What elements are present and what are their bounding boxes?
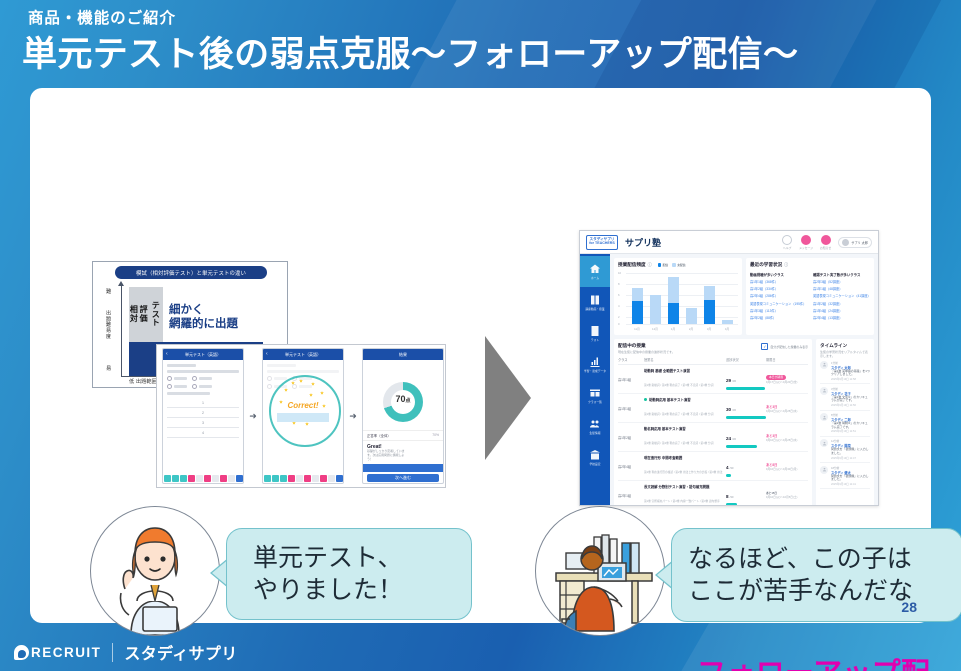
row-progress-cell: 24/30 [726, 427, 766, 448]
slide-eyebrow: 商品・機能のご紹介 [28, 6, 176, 28]
correct-ring-icon [269, 375, 341, 447]
bubble-left-line-2: やりました！ [253, 576, 403, 604]
options-row-1 [167, 376, 239, 381]
timeline-item[interactable]: 1分前 スタディ 太郎 「第1章 英単語の基礎」を1つクリアしました。 2025… [820, 358, 870, 384]
back-chevron-icon[interactable]: ‹ [266, 351, 268, 357]
comment-body: 基礎がしっかり定着しています。次は応用問題に挑戦しよう！ [367, 450, 407, 461]
row-date-range: 9月17日(火)〜9月20日(金) [766, 380, 808, 384]
y-axis-line [121, 284, 122, 376]
notifications-action[interactable]: お知らせ [820, 235, 831, 250]
footer-chip[interactable] [272, 475, 279, 482]
row-date-range: 9月10日(火)〜9月30日(月) [766, 467, 808, 471]
avatar [820, 413, 828, 421]
class-icon [589, 387, 601, 399]
col-date[interactable]: 期限日 [766, 357, 808, 362]
bubble-right-line-1: なるほど、この子は [688, 545, 912, 573]
diagram-note: 細かく 網羅的に出題 [169, 304, 238, 332]
list-item[interactable]: 英語表現コミュニケーション（41講座） [813, 293, 870, 298]
table-row[interactable]: 高2年1組 長文読解 分野別テスト演習・語句補充問題 第1章 空所補充パート /… [618, 481, 808, 506]
sidebar-label: 生徒情報 [590, 431, 601, 435]
bar-chart: 10 8 6 4 2 0 [618, 271, 738, 331]
row-class: 高1年1組 [618, 377, 644, 382]
diagram-note-line-1: 細かく [169, 304, 204, 316]
x-tick: 2月 [686, 327, 697, 331]
row-class: 高1年1組 [618, 406, 644, 411]
column-heading: 動画視聴が多いクラス [750, 272, 807, 277]
analytics-icon [589, 356, 601, 368]
checkbox-label: 自分が配信した授業のみ表示 [770, 345, 808, 349]
diagram-title: 模試（相対評価テスト）と単元テストの違い [115, 266, 267, 279]
relative-test-line-2: 評価 [139, 306, 149, 324]
progress-total: /30 [732, 437, 736, 441]
list-item[interactable]: 高1年2組（32講座） [813, 301, 870, 306]
list-item[interactable]: 高1年1組（368件） [750, 279, 807, 284]
table-title: 配信中の授業 [618, 343, 675, 349]
test-icon [589, 325, 601, 337]
timeline-item[interactable]: 3分前 スタディ 花子 「第1章 文型①」のカリキュラムが完了です。 2025年… [820, 384, 870, 410]
row-class: 高1年2組 [618, 435, 644, 440]
person-icon [822, 415, 827, 420]
chart-legend: 配信 未配信 [658, 263, 686, 267]
row-lesson-name: 現在進行形 中間考査範囲 [644, 455, 726, 460]
sidebar-label: ホーム [591, 276, 599, 280]
footer-chip[interactable] [172, 475, 179, 482]
list-item[interactable]: 高1年4組（24講座） [813, 308, 870, 313]
x-tick: 3月 [704, 327, 715, 331]
x-tick: 1月 [668, 327, 679, 331]
footer-chip[interactable] [288, 475, 295, 482]
progress-number: 30 [726, 407, 731, 412]
timeline-body: 問題文を「宿題欄」に入力しました。 [831, 475, 870, 482]
progress-bar-track [726, 474, 766, 477]
bar-column [668, 273, 679, 324]
row-date-main: あと3日 [766, 405, 777, 409]
score-unit: 点 [406, 398, 411, 404]
back-chevron-icon[interactable]: ‹ [166, 351, 168, 357]
progress-value: 24/30 [726, 436, 736, 441]
phone-body-1: 1 2 3 4 [163, 360, 243, 442]
notifications-label: お知らせ [820, 246, 831, 250]
chart-panel-title: 授業配信頻度 ⓘ 配信 未配信 [618, 262, 738, 268]
teacher-illustration [535, 506, 665, 636]
info-icon[interactable]: ⓘ [784, 262, 788, 268]
timeline-body: 「第1章 英単語の基礎」を1つクリアしました。 [831, 370, 870, 377]
score-number: 70 [395, 394, 405, 404]
row-progress-cell: 4/30 [726, 456, 766, 477]
row-date-main: あと8日 [766, 463, 777, 467]
footer-chip[interactable] [228, 475, 235, 482]
instruction-placeholder [167, 392, 210, 395]
timeline-stamp: 2025年9月19日 11:41 [831, 482, 870, 486]
bar-column [650, 273, 661, 324]
phone-header-title-2: 単元テスト（英語） [285, 352, 321, 358]
footer-chip[interactable] [236, 475, 243, 482]
row-class: 高2年1組 [618, 493, 644, 498]
row-name-cell: 長文読解 分野別テスト演習・語句補充問題 第1章 空所補充パート / 第2章 内… [644, 484, 726, 507]
footer-chip[interactable] [188, 475, 195, 482]
school-icon [589, 449, 601, 461]
recruit-label: RECRUIT [31, 645, 101, 660]
timeline-text: 1分前 スタディ 太郎 「第1章 英単語の基礎」を1つクリアしました。 2025… [831, 361, 870, 381]
relative-test-line-1: 相対 [129, 306, 139, 324]
row-lesson-name: 助動詞応用 基本テスト演習 [644, 397, 726, 402]
option-4[interactable] [192, 384, 212, 389]
phone-mockup-group: ‹ 単元テスト（英語） 1 2 [156, 344, 446, 488]
answer-row[interactable]: 1 [167, 398, 239, 408]
flow-arrow-large-icon [485, 336, 555, 460]
progress-number: 24 [726, 436, 731, 441]
phone-header-2: ‹ 単元テスト（英語） [263, 349, 343, 360]
relative-test-bar: 相対 評価 テスト [129, 287, 163, 343]
status-columns: 動画視聴が多いクラス 高1年1組（368件） 高1年2組（334件） 高2年4組… [750, 272, 870, 322]
row-lesson-name: 動名詞応用 基本テスト演習 [644, 426, 726, 431]
person-icon [822, 388, 827, 393]
row-name-cell: 動名詞応用 基本テスト演習 第1章 助動詞 / 第2章 現在完了 / 第3章 不… [644, 426, 726, 449]
row-class: 高2年4組 [618, 464, 644, 469]
row-date-cell: 本日が期限 9月17日(火)〜9月20日(金) [766, 375, 808, 384]
progress-bar-track [726, 416, 766, 419]
timeline-item[interactable]: 12分前 スタディ 陽菜 問題文を「宿題欄」に入力しました。 2025年9月19… [820, 437, 870, 463]
list-item[interactable]: 高1年2組（334件） [750, 286, 807, 291]
row-date-cell: あと15日 9月10日(火)〜10月5日(土) [766, 491, 808, 499]
y-tick: 0 [618, 322, 620, 326]
list-item[interactable]: 英語表現コミュニケーション（195件） [750, 301, 807, 306]
timeline-text: 8分前 スタディ 二郎 「第2章 時制②」のカリキュラム完了です。 2025年9… [831, 413, 870, 433]
bar-group [628, 273, 736, 324]
list-item[interactable]: 高2年4組（286件） [750, 293, 807, 298]
dim-line [267, 370, 339, 373]
footer-chip[interactable] [180, 475, 187, 482]
timeline-title: タイムライン [820, 343, 870, 349]
messages-action[interactable]: メッセージ [799, 235, 813, 250]
page-title: 単元テスト後の弱点克服〜フォローアップ配信〜 [22, 26, 798, 77]
footer-divider [112, 643, 113, 662]
table-row[interactable]: 高1年1組 助動詞応用 基本テスト演習 第1章 助動詞 / 第2章 現在完了 /… [618, 394, 808, 423]
slide-root: 商品・機能のご紹介 単元テスト後の弱点克服〜フォローアップ配信〜 模試（相対評価… [0, 0, 961, 671]
bubble-left-line-1: 単元テスト、 [253, 544, 403, 572]
row-date-main: あと3日 [766, 434, 777, 438]
sidebar-label: 学習・達成データ [584, 369, 606, 373]
timeline-item[interactable]: 18分前 スタディ 健太 問題文を「宿題欄」に入力しました。 2025年9月19… [820, 463, 870, 489]
timeline-stamp: 2025年9月19日 11:56 [831, 403, 870, 407]
home-icon [589, 263, 601, 275]
user-name: サプリ 太郎 [851, 240, 868, 245]
avatar [842, 239, 849, 246]
progress-number: 4 [726, 465, 729, 470]
phone-correct-screen: ‹ 単元テスト（英語） [262, 348, 344, 484]
phone-header-1: ‹ 単元テスト（英語） [163, 349, 243, 360]
x-axis-ticks: 11月 12月 1月 2月 3月 4月 [628, 327, 736, 331]
progress-total: /30 [730, 466, 734, 470]
legend-label: 配信 [663, 263, 669, 267]
timeline-text: 12分前 スタディ 陽菜 問題文を「宿題欄」に入力しました。 2025年9月19… [831, 439, 870, 459]
answer-row[interactable]: 2 [167, 408, 239, 418]
footer-chip[interactable] [220, 475, 227, 482]
footer-chip[interactable] [296, 475, 303, 482]
slide-footer: RECRUIT スタディサプリ [0, 630, 961, 671]
table-column-headers: クラス 授業名 進捗状況 期限日 [618, 357, 808, 365]
avatar [820, 361, 828, 369]
row-date-range: 9月10日(火)〜9月25日(水) [766, 438, 808, 442]
progress-value: 4/30 [726, 465, 733, 470]
progress-number: 29 [726, 378, 731, 383]
progress-total: /30 [732, 408, 736, 412]
help-label: ヘルプ [783, 246, 791, 250]
row-lesson-detail: 第1章 助動詞 / 第2章 現在完了 / 第3章 不定詞 / 第4章 分詞 [644, 442, 713, 445]
timeline-body: 「第1章 文型①」のカリキュラムが完了です。 [831, 396, 870, 403]
phone-header-title-3: 結果 [399, 352, 407, 358]
person-icon [822, 467, 827, 472]
messages-label: メッセージ [799, 246, 813, 250]
y-axis-label: 出題難易度 [105, 310, 112, 339]
brand-line-2: for TEACHERS [589, 242, 615, 246]
row-lesson-name: 長文読解 分野別テスト演習・語句補充問題 [644, 484, 726, 489]
x-tick: 12月 [650, 327, 661, 331]
row-name-cell: 助動詞 基礎 全範囲テスト演習 第1章 助動詞 / 第2章 現在完了 / 第3章… [644, 368, 726, 391]
sidebar-item-school[interactable]: 学校設定 [580, 442, 610, 473]
legend-item: 配信 [658, 263, 669, 267]
avatar [820, 387, 828, 395]
table-header-row: 配信中の授業 現在生徒に配信中の授業の進捗状況です。 ✓ 自分が配信した授業のみ… [618, 343, 808, 354]
sidebar-item-students[interactable]: 生徒情報 [580, 411, 610, 442]
progress-value: 29/30 [726, 378, 736, 383]
status-column-right: 確認テスト実了数が多いクラス 高2年3組（52講座） 高1年1組（48講座） 英… [813, 272, 870, 322]
list-item[interactable]: 高1年1組（48講座） [813, 286, 870, 291]
row-date-cell: あと3日 9月10日(火)〜9月25日(水) [766, 433, 808, 442]
x-tick: 11月 [632, 327, 643, 331]
row-date-range: 9月10日(火)〜10月5日(土) [766, 495, 808, 499]
progress-total: /30 [730, 495, 734, 499]
y-tick: 10 [618, 271, 621, 275]
prompt-placeholder [167, 370, 239, 373]
page-number: 28 [901, 599, 917, 615]
footer-chip[interactable] [328, 475, 335, 482]
progress-bar-track [726, 445, 766, 448]
list-item[interactable]: 高2年4組（13講座） [813, 315, 870, 320]
student-speech-bubble: 単元テスト、 やりました！ [226, 528, 472, 620]
phone-header-3: 結果 [363, 349, 443, 360]
topbar-actions: ヘルプ メッセージ お知らせ サプリ 太郎 [782, 235, 872, 250]
flow-arrow-icon-1: ➜ [248, 411, 258, 422]
table-row[interactable]: 高2年4組 現在進行形 中間考査範囲 第1章 現在進行形の確認 / 第2章 用法… [618, 452, 808, 481]
y-tick: 6 [618, 293, 620, 297]
score-row: 正答率（全体） 70% [363, 430, 443, 441]
progress-value: 30/30 [726, 407, 736, 412]
options-row-2 [167, 384, 239, 389]
row-lesson-name: 助動詞 基礎 全範囲テスト演習 [644, 368, 726, 373]
footer-chip[interactable] [164, 475, 171, 482]
bar-column [722, 273, 733, 324]
x-tick: 4月 [722, 327, 733, 331]
timeline-stamp: 2025年9月19日 11:51 [831, 429, 870, 433]
footer-chip[interactable] [320, 475, 327, 482]
score-value: 70点 [383, 394, 423, 404]
score-area: 70点 [363, 360, 443, 430]
footer-chip[interactable] [280, 475, 287, 482]
teacher-speech-bubble: なるほど、この子は ここが苦手なんだな [671, 528, 961, 622]
timeline-text: 18分前 スタディ 健太 問題文を「宿題欄」に入力しました。 2025年9月19… [831, 466, 870, 486]
table-subtitle: 現在生徒に配信中の授業の進捗状況です。 [618, 350, 675, 354]
sidebar-item-home[interactable]: ホーム [580, 256, 610, 287]
bar-column [686, 273, 697, 324]
footer-chip[interactable] [336, 475, 343, 482]
phone-footer-1 [163, 474, 243, 483]
person-icon [822, 362, 827, 367]
next-button[interactable]: 次へ進む [367, 474, 439, 482]
table-row[interactable]: 高1年2組 動名詞応用 基本テスト演習 第1章 助動詞 / 第2章 現在完了 /… [618, 423, 808, 452]
sidebar-label: クラス一覧 [588, 400, 602, 404]
status-badge: 本日が期限 [766, 375, 786, 380]
legend-item: 未配信 [672, 263, 685, 267]
status-panel: 最近の学習状況 ⓘ 動画視聴が多いクラス 高1年1組（368件） 高1年2組（3… [746, 258, 874, 335]
avatar [820, 439, 828, 447]
table-row[interactable]: 高1年1組 助動詞 基礎 全範囲テスト演習 第1章 助動詞 / 第2章 現在完了… [618, 365, 808, 394]
timeline-stamp: 2025年9月19日 11:47 [831, 456, 870, 460]
row-lesson-detail: 第1章 助動詞 / 第2章 現在完了 / 第3章 不定詞 / 第4章 分詞 [644, 384, 713, 387]
list-item[interactable]: 高1年3組（113件） [750, 308, 807, 313]
dashboard-main: 授業配信頻度 ⓘ 配信 未配信 10 8 6 [610, 254, 878, 506]
help-icon [782, 235, 792, 245]
sidebar-item-class[interactable]: クラス一覧 [580, 380, 610, 411]
chart-title-text: 授業配信頻度 [618, 262, 646, 268]
user-menu[interactable]: サプリ 太郎 [838, 237, 872, 248]
progress-value: 8/30 [726, 494, 733, 499]
dashboard-title: サプリ塾 [625, 236, 661, 249]
col-progress: 進捗状況 [726, 357, 766, 362]
sidebar-item-test[interactable]: テスト [580, 318, 610, 349]
sidebar-label: 講座動画・授業 [585, 307, 604, 311]
footer-chip[interactable] [312, 475, 319, 482]
list-item[interactable]: 高2年3組（52講座） [813, 279, 870, 284]
answer-row[interactable]: 3 [167, 418, 239, 428]
question-label-placeholder [167, 364, 196, 367]
footer-chip[interactable] [264, 475, 271, 482]
score-row-value: 70% [432, 433, 439, 438]
bar-column [704, 273, 715, 324]
timeline-item[interactable]: 8分前 スタディ 二郎 「第2章 時制②」のカリキュラム完了です。 2025年9… [820, 411, 870, 437]
footer-chip[interactable] [204, 475, 211, 482]
timeline-body: 「第2章 時制②」のカリキュラム完了です。 [831, 422, 870, 429]
y-axis-top-label: 難 [106, 288, 111, 295]
sidebar-item-library[interactable]: 講座動画・授業 [580, 287, 610, 318]
comment-area: Great! 基礎がしっかり定着しています。次は応用問題に挑戦しよう！ [363, 441, 443, 464]
new-dot-icon [644, 398, 647, 401]
footer-chip[interactable] [212, 475, 219, 482]
status-column-left: 動画視聴が多いクラス 高1年1組（368件） 高1年2組（334件） 高2年4組… [750, 272, 807, 322]
sidebar-label: 学校設定 [590, 462, 601, 466]
library-icon [589, 294, 601, 306]
option-2[interactable] [192, 376, 212, 381]
row-date-cell: あと8日 9月10日(火)〜9月30日(月) [766, 462, 808, 471]
avatar [820, 466, 828, 474]
bottom-panel-row: 配信中の授業 現在生徒に配信中の授業の進捗状況です。 ✓ 自分が配信した授業のみ… [614, 339, 874, 506]
list-item[interactable]: 高2年2組（88件） [750, 315, 807, 320]
students-icon [589, 418, 601, 430]
sidebar-item-analytics[interactable]: 学習・達成データ [580, 349, 610, 380]
divider-band [363, 464, 443, 472]
footer-chip[interactable] [196, 475, 203, 482]
timeline-text: 3分前 スタディ 花子 「第1章 文型①」のカリキュラムが完了です。 2025年… [831, 387, 870, 407]
brand-logo: スタディサプリ for TEACHERS [586, 235, 618, 250]
filter-checkbox[interactable]: ✓ 自分が配信した授業のみ表示 [761, 343, 808, 350]
table-heading-block: 配信中の授業 現在生徒に配信中の授業の進捗状況です。 [618, 343, 675, 354]
dashboard-body: ホーム 講座動画・授業 テスト 学習・達成データ [580, 254, 878, 506]
dim-line [267, 364, 296, 367]
help-action[interactable]: ヘルプ [782, 235, 792, 250]
col-name: 授業名 [644, 357, 726, 362]
answer-highlight [277, 413, 329, 422]
status-panel-title: 最近の学習状況 ⓘ [750, 262, 870, 268]
content-card: 模試（相対評価テスト）と単元テストの違い 難 出題難易度 易 低 出題範囲に対す… [30, 88, 931, 623]
phone-question-screen: ‹ 単元テスト（英語） 1 2 [162, 348, 244, 484]
answer-row[interactable]: 4 [167, 428, 239, 438]
y-tick: 8 [618, 282, 620, 286]
row-date-range: 9月10日(火)〜9月25日(水) [766, 409, 808, 413]
message-icon [801, 235, 811, 245]
y-tick: 2 [618, 315, 620, 319]
bar-column [632, 273, 643, 324]
row-lesson-detail: 第1章 助動詞 / 第2章 現在完了 / 第3章 不定詞 / 第4章 分詞 [644, 413, 713, 416]
footer-logo-group: RECRUIT スタディサプリ [14, 640, 238, 664]
progress-bar-track [726, 387, 766, 390]
person-icon [822, 441, 827, 446]
progress-number: 8 [726, 494, 729, 499]
option-1[interactable] [167, 376, 187, 381]
relative-test-line-3: テスト [148, 302, 163, 329]
progress-bar-track [726, 503, 766, 506]
footer-chip[interactable] [304, 475, 311, 482]
row-name-cell: 助動詞応用 基本テスト演習 第1章 助動詞 / 第2章 現在完了 / 第3章 不… [644, 397, 726, 420]
student-illustration [90, 506, 220, 636]
col-class: クラス [618, 357, 644, 362]
timeline-panel: タイムライン 生徒の学習状況をリアルタイムで表示します。 1分前 スタディ 太郎… [816, 339, 874, 506]
timeline-subtitle: 生徒の学習状況をリアルタイムで表示します。 [820, 350, 870, 358]
progress-total: /30 [732, 379, 736, 383]
bubble-left-text: 単元テスト、 やりました！ [253, 542, 403, 606]
dashboard-sidebar: ホーム 講座動画・授業 テスト 学習・達成データ [580, 254, 610, 506]
row-progress-cell: 30/30 [726, 398, 766, 419]
flow-arrow-icon-2: ➜ [348, 411, 358, 422]
top-panel-row: 授業配信頻度 ⓘ 配信 未配信 10 8 6 [614, 258, 874, 335]
lessons-table-panel: 配信中の授業 現在生徒に配信中の授業の進捗状況です。 ✓ 自分が配信した授業のみ… [614, 339, 812, 506]
row-progress-cell: 8/30 [726, 485, 766, 506]
timeline-body: 問題文を「宿題欄」に入力しました。 [831, 448, 870, 455]
row-lesson-detail: 第1章 現在進行形の確認 / 第2章 用法と作り方の比較 / 第3章 用法 [644, 471, 722, 474]
y-tick: 4 [618, 304, 620, 308]
phone-result-screen: 結果 70点 正答率（全体） 70% Great! 基礎がしっかり定着しています… [362, 348, 444, 484]
timeline-stamp: 2025年9月19日 11:58 [831, 377, 870, 381]
legend-label: 未配信 [677, 263, 685, 267]
bubble-right-line-2: ここが苦手なんだな [688, 577, 913, 605]
row-progress-cell: 29/30 [726, 369, 766, 390]
recruit-mark-icon [14, 645, 29, 660]
y-axis-bottom-label: 易 [106, 365, 111, 372]
row-date-cell: あと3日 9月10日(火)〜9月25日(水) [766, 404, 808, 413]
correct-label: Correct! [275, 401, 331, 410]
checkbox-icon: ✓ [761, 343, 768, 350]
diagram-note-line-2: 網羅的に出題 [169, 318, 238, 330]
recruit-logo: RECRUIT [14, 645, 101, 660]
phone-header-title-1: 単元テスト（英語） [185, 352, 221, 358]
dashboard-topbar: スタディサプリ for TEACHERS サプリ塾 ヘルプ メッセージ [580, 231, 878, 254]
chart-panel: 授業配信頻度 ⓘ 配信 未配信 10 8 6 [614, 258, 742, 335]
row-lesson-detail: 第1章 空所補充パート / 第2章 内容一致パート / 第3章 語句整序 [644, 500, 720, 503]
bubble-right-text: なるほど、この子は ここが苦手なんだな [688, 543, 913, 607]
info-icon[interactable]: ⓘ [648, 262, 652, 268]
column-heading: 確認テスト実了数が多いクラス [813, 272, 870, 277]
row-name-cell: 現在進行形 中間考査範囲 第1章 現在進行形の確認 / 第2章 用法と作り方の比… [644, 455, 726, 478]
option-3[interactable] [167, 384, 187, 389]
